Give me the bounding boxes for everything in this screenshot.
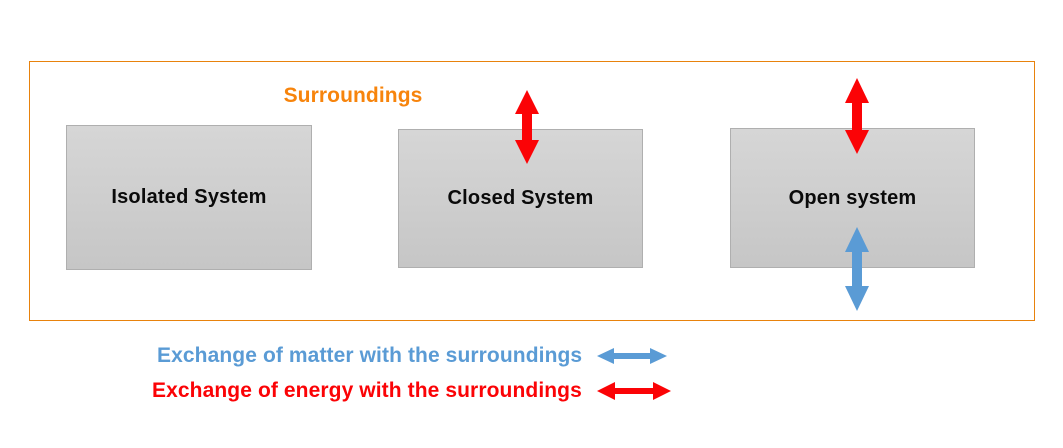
legend-label-energy: Exchange of energy with the surroundings (152, 379, 582, 403)
legend-matter-arrow-icon (596, 345, 668, 367)
closed-system-box: Closed System (398, 129, 643, 268)
legend-energy-arrow-icon (596, 380, 672, 402)
legend-item-matter: Exchange of matter with the surroundings (157, 341, 668, 371)
legend-label-matter: Exchange of matter with the surroundings (157, 344, 582, 368)
open-system-box: Open system (730, 128, 975, 268)
surroundings-title: Surroundings (268, 84, 438, 108)
legend: Exchange of matter with the surroundings… (0, 337, 1063, 417)
legend-item-energy: Exchange of energy with the surroundings (152, 376, 672, 406)
open-system-label: Open system (789, 187, 917, 210)
diagram-canvas: Surroundings Isolated System Closed Syst… (0, 0, 1063, 448)
closed-system-label: Closed System (448, 187, 594, 210)
isolated-system-label: Isolated System (111, 186, 266, 209)
isolated-system-box: Isolated System (66, 125, 312, 270)
